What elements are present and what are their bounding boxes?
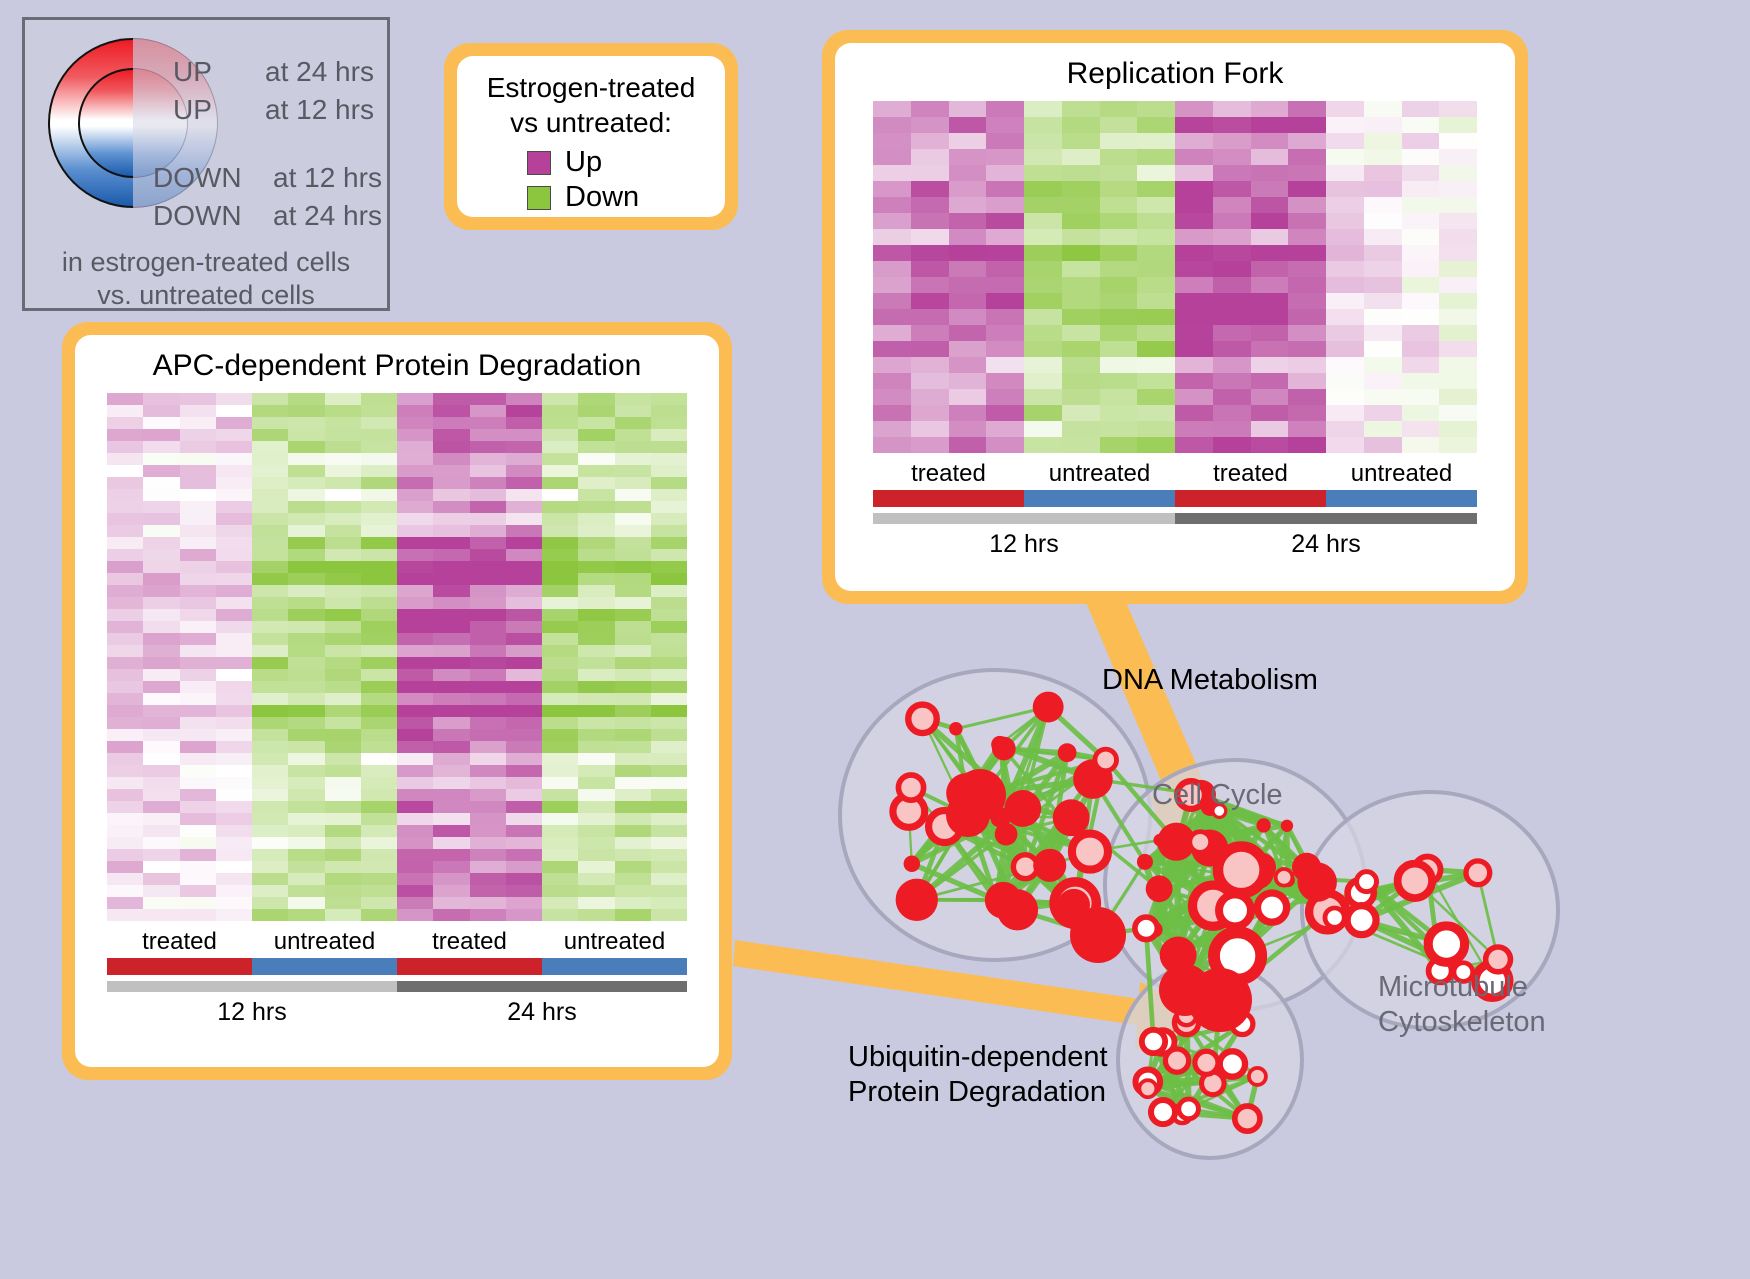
heatmap-cell (911, 117, 949, 133)
heatmap-cell (873, 293, 911, 309)
heatmap-cell (1062, 213, 1100, 229)
heatmap-cell (506, 681, 542, 693)
heatmap-cell (986, 149, 1024, 165)
heatmap-cell (578, 837, 614, 849)
heatmap-cell (1364, 293, 1402, 309)
heatmap-cell (361, 597, 397, 609)
heatmap-cell (470, 753, 506, 765)
treatment-segment-untreated-24 (1326, 490, 1477, 507)
heatmap-cell (615, 453, 651, 465)
heatmap-cell (361, 453, 397, 465)
heatmap-cell (361, 417, 397, 429)
heatmap-cell (361, 633, 397, 645)
heatmap-cell (216, 501, 252, 513)
heatmap-cell (288, 621, 324, 633)
heatmap-cell (615, 417, 651, 429)
heatmap-cell (506, 669, 542, 681)
heatmap-cell (911, 101, 949, 117)
heatmap-cell (1439, 213, 1477, 229)
heatmap-cell (107, 453, 143, 465)
heatmap-cell (1100, 309, 1138, 325)
heatmap-cell (107, 561, 143, 573)
heatmap-cell (470, 765, 506, 777)
heatmap-cell (578, 405, 614, 417)
heatmap-cell (325, 801, 361, 813)
heatmap-cell (288, 789, 324, 801)
heatmap-cell (1326, 421, 1364, 437)
heatmap-cell (325, 561, 361, 573)
heatmap-cell (542, 909, 578, 921)
cluster-label-ubiquitin-degradation: Ubiquitin-dependent Protein Degradation (848, 1040, 1108, 1110)
heatmap-cell (986, 389, 1024, 405)
heatmap-cell (1100, 277, 1138, 293)
heatmap-cell (433, 693, 469, 705)
heatmap-cell (1251, 117, 1289, 133)
heatmap-cell (288, 585, 324, 597)
heatmap-cell (397, 477, 433, 489)
heatmap-cell (288, 717, 324, 729)
heatmap-cell (1402, 277, 1440, 293)
heatmap-cell (911, 373, 949, 389)
heatmap-cell (949, 101, 987, 117)
heatmap-cell (873, 325, 911, 341)
heatmap-cell (1251, 325, 1289, 341)
heatmap-cell (1439, 357, 1477, 373)
heatmap-cell (180, 549, 216, 561)
heatmap-cell (911, 421, 949, 437)
heatmap-cell (1288, 149, 1326, 165)
network-node (1095, 749, 1117, 771)
heatmap-cell (873, 373, 911, 389)
heatmap-cell (397, 405, 433, 417)
heatmap-cell (1062, 229, 1100, 245)
heatmap-cell (651, 837, 687, 849)
heatmap-cell (1326, 117, 1364, 133)
heatmap-cell (1024, 149, 1062, 165)
heatmap-cell (1402, 133, 1440, 149)
heatmap-cell (1100, 213, 1138, 229)
heatmap-cell (1062, 277, 1100, 293)
heatmap-cell (325, 633, 361, 645)
heatmap-cell (361, 825, 397, 837)
heatmap-cell (615, 597, 651, 609)
heatmap-cell (433, 705, 469, 717)
heatmap-cell (397, 525, 433, 537)
heatmap-cell (288, 849, 324, 861)
heatmap-cell (143, 741, 179, 753)
heatmap-cell (143, 621, 179, 633)
heatmap-cell (1137, 389, 1175, 405)
heatmap-cell (252, 585, 288, 597)
ring-row-direction: UP (173, 56, 212, 88)
heatmap-cell (506, 765, 542, 777)
heatmap-cell (651, 741, 687, 753)
heatmap-cell (252, 429, 288, 441)
heatmap-cell (397, 789, 433, 801)
heatmap-cell (325, 393, 361, 405)
ring-row-time: at 24 hrs (265, 56, 374, 88)
heatmap-cell (216, 633, 252, 645)
heatmap-cell (873, 341, 911, 357)
heatmap-cell (470, 777, 506, 789)
apc-degradation-inner: APC-dependent Protein Degradation treate… (75, 335, 719, 1067)
heatmap-cell (288, 477, 324, 489)
heatmap-cell (216, 645, 252, 657)
heatmap-cell (325, 717, 361, 729)
heatmap-cell (180, 837, 216, 849)
heatmap-cell (180, 717, 216, 729)
heatmap-cell (397, 429, 433, 441)
heatmap-cell (216, 669, 252, 681)
heatmap-cell (107, 765, 143, 777)
heatmap-cell (397, 465, 433, 477)
heatmap-cell (361, 621, 397, 633)
key-legend-title-line1: Estrogen-treated (467, 70, 715, 105)
heatmap-cell (216, 813, 252, 825)
heatmap-cell (1439, 309, 1477, 325)
heatmap-cell (615, 789, 651, 801)
heatmap-cell (578, 465, 614, 477)
heatmap-cell (433, 393, 469, 405)
heatmap-cell (651, 621, 687, 633)
heatmap-cell (1402, 389, 1440, 405)
heatmap-cell (143, 597, 179, 609)
heatmap-cell (252, 657, 288, 669)
heatmap-cell (470, 441, 506, 453)
heatmap-cell (143, 501, 179, 513)
network-node (1190, 832, 1211, 853)
heatmap-cell (873, 405, 911, 421)
network-node (1070, 907, 1126, 963)
heatmap-cell (1402, 437, 1440, 453)
heatmap-cell (180, 765, 216, 777)
heatmap-cell (1439, 149, 1477, 165)
apc-treatment-bar (107, 958, 687, 975)
heatmap-cell (506, 525, 542, 537)
heatmap-cell (615, 429, 651, 441)
heatmap-cell (1402, 293, 1440, 309)
heatmap-cell (107, 825, 143, 837)
network-node (1058, 743, 1077, 762)
heatmap-cell (1137, 437, 1175, 453)
heatmap-cell (615, 729, 651, 741)
heatmap-cell (433, 813, 469, 825)
heatmap-cell (986, 213, 1024, 229)
heatmap-cell (361, 741, 397, 753)
heatmap-cell (288, 465, 324, 477)
heatmap-cell (1288, 373, 1326, 389)
heatmap-cell (107, 621, 143, 633)
heatmap-cell (143, 705, 179, 717)
heatmap-cell (143, 801, 179, 813)
figure-canvas: UP at 24 hrs UP at 12 hrs DOWN at 12 hrs… (0, 0, 1750, 1279)
heatmap-cell (1175, 213, 1213, 229)
ring-legend-box: UP at 24 hrs UP at 12 hrs DOWN at 12 hrs… (22, 17, 390, 311)
replication-fork-body: treated untreated treated untreated 12 h (873, 101, 1477, 559)
heatmap-cell (1137, 229, 1175, 245)
replication-fork-group-labels: treated untreated treated untreated (873, 460, 1477, 488)
heatmap-cell (433, 837, 469, 849)
heatmap-cell (578, 633, 614, 645)
heatmap-cell (651, 897, 687, 909)
heatmap-cell (578, 549, 614, 561)
heatmap-cell (578, 753, 614, 765)
heatmap-cell (1175, 133, 1213, 149)
heatmap-cell (1062, 101, 1100, 117)
heatmap-cell (1100, 181, 1138, 197)
heatmap-cell (506, 513, 542, 525)
heatmap-cell (288, 417, 324, 429)
heatmap-cell (615, 561, 651, 573)
heatmap-cell (578, 441, 614, 453)
heatmap-cell (542, 405, 578, 417)
heatmap-cell (1024, 213, 1062, 229)
heatmap-cell (216, 549, 252, 561)
group-label: treated (1175, 460, 1326, 488)
heatmap-cell (1175, 197, 1213, 213)
heatmap-cell (252, 717, 288, 729)
heatmap-cell (615, 741, 651, 753)
heatmap-cell (288, 705, 324, 717)
heatmap-cell (1175, 117, 1213, 133)
heatmap-cell (325, 549, 361, 561)
heatmap-cell (180, 489, 216, 501)
heatmap-cell (1137, 421, 1175, 437)
heatmap-cell (361, 789, 397, 801)
heatmap-cell (1326, 277, 1364, 293)
heatmap-cell (1062, 197, 1100, 213)
heatmap-cell (180, 861, 216, 873)
network-node (1033, 849, 1066, 882)
heatmap-cell (1364, 149, 1402, 165)
heatmap-cell (506, 825, 542, 837)
heatmap-cell (397, 573, 433, 585)
heatmap-cell (1251, 405, 1289, 421)
heatmap-cell (542, 657, 578, 669)
heatmap-cell (506, 849, 542, 861)
heatmap-cell (180, 453, 216, 465)
heatmap-cell (252, 525, 288, 537)
heatmap-cell (506, 777, 542, 789)
network-node (1235, 1106, 1260, 1131)
heatmap-cell (1402, 405, 1440, 421)
group-label: untreated (1024, 460, 1175, 488)
group-label: untreated (252, 928, 397, 956)
heatmap-cell (542, 597, 578, 609)
heatmap-cell (1326, 341, 1364, 357)
heatmap-cell (1326, 261, 1364, 277)
heatmap-cell (325, 753, 361, 765)
heatmap-cell (180, 753, 216, 765)
heatmap-cell (873, 357, 911, 373)
heatmap-cell (107, 681, 143, 693)
heatmap-cell (1288, 357, 1326, 373)
heatmap-cell (1326, 293, 1364, 309)
heatmap-cell (470, 741, 506, 753)
heatmap-cell (542, 777, 578, 789)
heatmap-cell (1100, 261, 1138, 277)
heatmap-cell (107, 501, 143, 513)
heatmap-cell (470, 525, 506, 537)
heatmap-cell (506, 621, 542, 633)
heatmap-cell (1364, 181, 1402, 197)
heatmap-cell (1364, 229, 1402, 245)
replication-fork-inner: Replication Fork treated untreated treat… (835, 43, 1515, 591)
heatmap-cell (1062, 325, 1100, 341)
time-segment-24 (1175, 513, 1477, 524)
heatmap-cell (506, 561, 542, 573)
heatmap-cell (470, 633, 506, 645)
heatmap-cell (107, 417, 143, 429)
heatmap-cell (542, 765, 578, 777)
heatmap-cell (180, 417, 216, 429)
updown-key-legend-inner: Estrogen-treated vs untreated: Up Down (457, 56, 725, 217)
heatmap-cell (143, 909, 179, 921)
heatmap-cell (361, 609, 397, 621)
network-node (1033, 692, 1064, 723)
heatmap-cell (143, 753, 179, 765)
heatmap-cell (288, 885, 324, 897)
heatmap-cell (470, 837, 506, 849)
heatmap-cell (949, 213, 987, 229)
heatmap-cell (911, 437, 949, 453)
heatmap-cell (470, 849, 506, 861)
heatmap-cell (433, 549, 469, 561)
network-node (1219, 894, 1251, 926)
heatmap-cell (361, 681, 397, 693)
heatmap-cell (143, 777, 179, 789)
heatmap-cell (252, 849, 288, 861)
heatmap-cell (288, 561, 324, 573)
heatmap-cell (873, 165, 911, 181)
heatmap-cell (615, 873, 651, 885)
heatmap-cell (1024, 117, 1062, 133)
heatmap-cell (1100, 101, 1138, 117)
heatmap-cell (107, 537, 143, 549)
heatmap-cell (911, 277, 949, 293)
heatmap-cell (542, 453, 578, 465)
heatmap-cell (397, 897, 433, 909)
heatmap-cell (651, 393, 687, 405)
heatmap-cell (1213, 437, 1251, 453)
heatmap-cell (216, 741, 252, 753)
heatmap-cell (542, 669, 578, 681)
network-node (1428, 926, 1464, 962)
heatmap-cell (1288, 261, 1326, 277)
ring-row-direction: DOWN (153, 200, 242, 232)
network-node (904, 856, 920, 872)
heatmap-cell (986, 437, 1024, 453)
treatment-segment-untreated-12 (1024, 490, 1175, 507)
heatmap-cell (542, 585, 578, 597)
heatmap-cell (1137, 341, 1175, 357)
heatmap-cell (216, 489, 252, 501)
heatmap-cell (288, 489, 324, 501)
heatmap-cell (578, 477, 614, 489)
network-node (898, 775, 923, 800)
heatmap-cell (1251, 373, 1289, 389)
heatmap-cell (986, 197, 1024, 213)
heatmap-cell (1062, 149, 1100, 165)
heatmap-cell (397, 549, 433, 561)
heatmap-cell (578, 741, 614, 753)
heatmap-cell (1175, 373, 1213, 389)
heatmap-cell (470, 549, 506, 561)
replication-fork-title: Replication Fork (835, 43, 1515, 91)
heatmap-cell (143, 693, 179, 705)
heatmap-cell (252, 573, 288, 585)
heatmap-cell (180, 741, 216, 753)
heatmap-cell (107, 393, 143, 405)
heatmap-cell (325, 813, 361, 825)
heatmap-cell (1326, 149, 1364, 165)
network-node (995, 823, 1018, 846)
heatmap-cell (1213, 277, 1251, 293)
heatmap-cell (1062, 405, 1100, 421)
heatmap-cell (615, 705, 651, 717)
heatmap-cell (651, 477, 687, 489)
network-node (1165, 1049, 1188, 1072)
heatmap-cell (911, 149, 949, 165)
heatmap-cell (651, 885, 687, 897)
heatmap-cell (107, 729, 143, 741)
heatmap-cell (252, 705, 288, 717)
heatmap-cell (397, 609, 433, 621)
heatmap-cell (1251, 101, 1289, 117)
heatmap-cell (615, 405, 651, 417)
heatmap-cell (949, 245, 987, 261)
heatmap-cell (578, 669, 614, 681)
network-node (1004, 790, 1041, 827)
heatmap-cell (433, 909, 469, 921)
heatmap-cell (252, 873, 288, 885)
heatmap-cell (911, 357, 949, 373)
heatmap-cell (1288, 325, 1326, 341)
heatmap-cell (949, 117, 987, 133)
heatmap-cell (107, 801, 143, 813)
heatmap-cell (361, 561, 397, 573)
network-node (1179, 1099, 1199, 1119)
heatmap-cell (615, 633, 651, 645)
heatmap-cell (1439, 181, 1477, 197)
heatmap-cell (288, 825, 324, 837)
heatmap-cell (361, 729, 397, 741)
heatmap-cell (180, 573, 216, 585)
heatmap-cell (143, 573, 179, 585)
heatmap-cell (1326, 357, 1364, 373)
heatmap-cell (252, 405, 288, 417)
heatmap-cell (1175, 421, 1213, 437)
heatmap-cell (288, 909, 324, 921)
heatmap-cell (143, 393, 179, 405)
heatmap-cell (542, 873, 578, 885)
heatmap-cell (252, 729, 288, 741)
heatmap-cell (651, 861, 687, 873)
heatmap-cell (143, 525, 179, 537)
heatmap-cell (216, 693, 252, 705)
heatmap-cell (1024, 101, 1062, 117)
heatmap-cell (325, 909, 361, 921)
heatmap-cell (470, 573, 506, 585)
heatmap-cell (1062, 389, 1100, 405)
heatmap-cell (325, 741, 361, 753)
heatmap-cell (1062, 133, 1100, 149)
heatmap-cell (470, 801, 506, 813)
heatmap-cell (1439, 293, 1477, 309)
heatmap-cell (578, 609, 614, 621)
heatmap-cell (911, 133, 949, 149)
heatmap-cell (252, 885, 288, 897)
